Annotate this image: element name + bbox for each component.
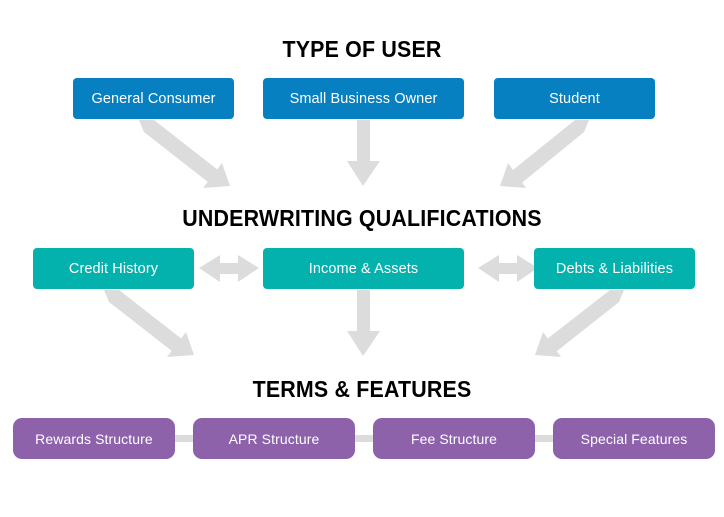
node-credit-history[interactable]: Credit History (33, 248, 194, 289)
arrow-credit-history-to-terms (104, 290, 194, 357)
arrow-bidirectional-credit-history-income-assets (199, 255, 259, 282)
arrow-bidirectional-income-assets-debts-liabilities (478, 255, 538, 282)
arrow-income-assets-to-terms (347, 290, 380, 356)
node-rewards-structure[interactable]: Rewards Structure (13, 418, 175, 459)
node-special-features[interactable]: Special Features (553, 418, 715, 459)
node-apr-structure[interactable]: APR Structure (193, 418, 355, 459)
node-income-and-assets[interactable]: Income & Assets (263, 248, 464, 289)
node-general-consumer[interactable]: General Consumer (73, 78, 234, 119)
flow-diagram: TYPE OF USER UNDERWRITING QUALIFICATIONS… (0, 0, 724, 517)
node-student[interactable]: Student (494, 78, 655, 119)
section-title-terms-and-features: TERMS & FEATURES (25, 376, 698, 403)
arrow-small-business-owner-to-income-assets (347, 120, 380, 186)
arrow-general-consumer-to-credit-history (139, 120, 230, 188)
section-title-type-of-user: TYPE OF USER (25, 36, 698, 63)
section-title-underwriting-qualifications: UNDERWRITING QUALIFICATIONS (25, 205, 698, 232)
arrow-debts-liabilities-to-terms (535, 290, 624, 357)
node-small-business-owner[interactable]: Small Business Owner (263, 78, 464, 119)
arrow-student-to-debts-liabilities (500, 120, 589, 188)
node-debts-and-liabilities[interactable]: Debts & Liabilities (534, 248, 695, 289)
node-fee-structure[interactable]: Fee Structure (373, 418, 535, 459)
